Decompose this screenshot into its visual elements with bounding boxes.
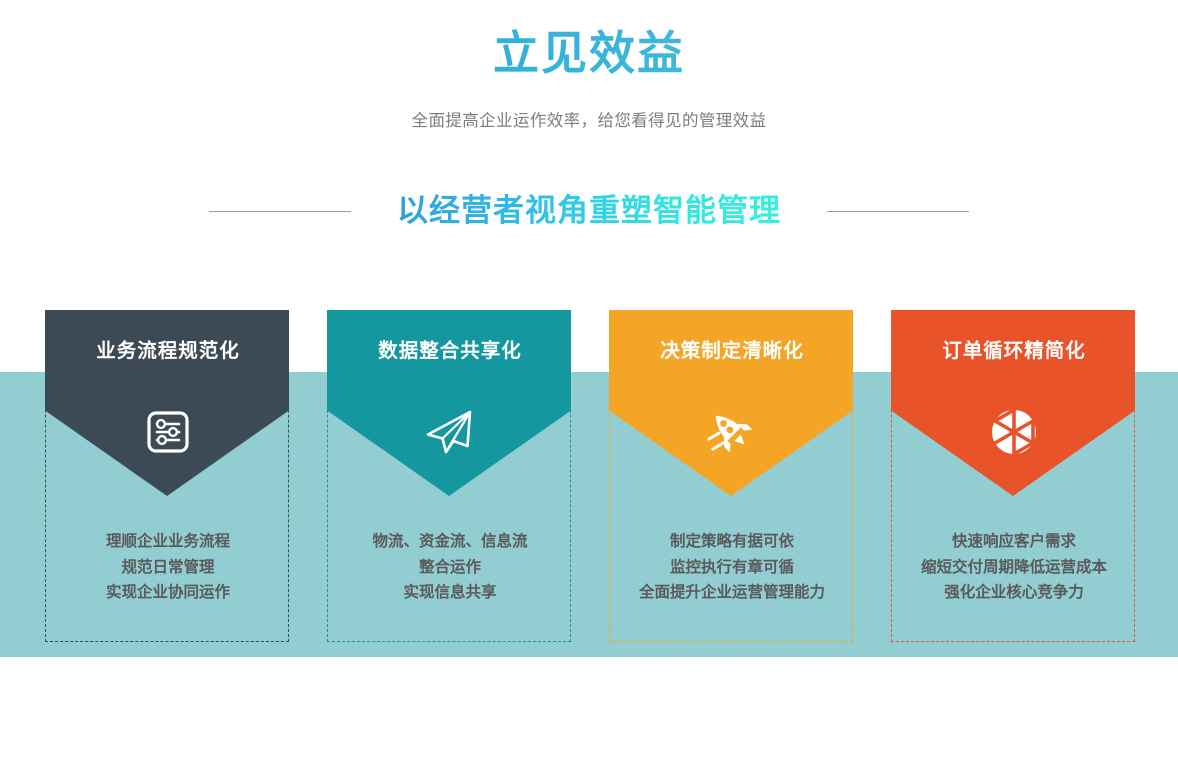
feature-card-list: 业务流程规范化 理顺企业业务流程 规范日常管理 实现企业协同运作 <box>45 310 1133 642</box>
card-title: 业务流程规范化 <box>46 337 290 365</box>
rocket-icon <box>610 401 854 463</box>
divider-line-right <box>827 211 969 212</box>
section-heading: 以经营者视角重塑智能管理 <box>397 189 781 233</box>
card-title: 数据整合共享化 <box>328 337 572 365</box>
page-root: 立见效益 全面提高企业运作效率，给您看得见的管理效益 以经营者视角重塑智能管理 … <box>0 0 1178 771</box>
card-description-line: 整合运作 <box>334 555 566 581</box>
page-title: 立见效益 <box>0 22 1178 84</box>
feature-card-decision-making[interactable]: 决策制定清晰化 制定策略有据可依 监控执行有章 <box>609 310 853 642</box>
feature-card-business-process[interactable]: 业务流程规范化 理顺企业业务流程 规范日常管理 实现企业协同运作 <box>45 310 289 642</box>
card-description: 制定策略有据可依 监控执行有章可循 全面提升企业运营管理能力 <box>616 529 848 606</box>
card-description-line: 理顺企业业务流程 <box>52 529 284 555</box>
card-description-line: 缩短交付周期降低运营成本 <box>898 555 1130 581</box>
card-description: 理顺企业业务流程 规范日常管理 实现企业协同运作 <box>52 529 284 606</box>
card-description-line: 快速响应客户需求 <box>898 529 1130 555</box>
divider-line-left <box>209 211 351 212</box>
card-description-line: 全面提升企业运营管理能力 <box>616 580 848 606</box>
sliders-icon <box>46 401 290 463</box>
feature-card-data-sharing[interactable]: 数据整合共享化 物流、资金流、信息流 整合运作 实现信息共享 <box>327 310 571 642</box>
card-description: 物流、资金流、信息流 整合运作 实现信息共享 <box>334 529 566 606</box>
paper-plane-icon <box>328 401 572 463</box>
card-description-line: 规范日常管理 <box>52 555 284 581</box>
feature-card-order-cycle[interactable]: 订单循环精简化 <box>891 310 1135 642</box>
card-description-line: 强化企业核心竞争力 <box>898 580 1130 606</box>
card-description-line: 实现信息共享 <box>334 580 566 606</box>
card-title: 订单循环精简化 <box>892 337 1136 365</box>
page-subtitle: 全面提高企业运作效率，给您看得见的管理效益 <box>0 107 1178 135</box>
aperture-icon <box>892 401 1136 463</box>
card-description-line: 物流、资金流、信息流 <box>334 529 566 555</box>
card-description: 快速响应客户需求 缩短交付周期降低运营成本 强化企业核心竞争力 <box>898 529 1130 606</box>
section-heading-group: 以经营者视角重塑智能管理 <box>0 186 1178 236</box>
card-description-line: 监控执行有章可循 <box>616 555 848 581</box>
card-title: 决策制定清晰化 <box>610 337 854 365</box>
card-description-line: 实现企业协同运作 <box>52 580 284 606</box>
card-description-line: 制定策略有据可依 <box>616 529 848 555</box>
